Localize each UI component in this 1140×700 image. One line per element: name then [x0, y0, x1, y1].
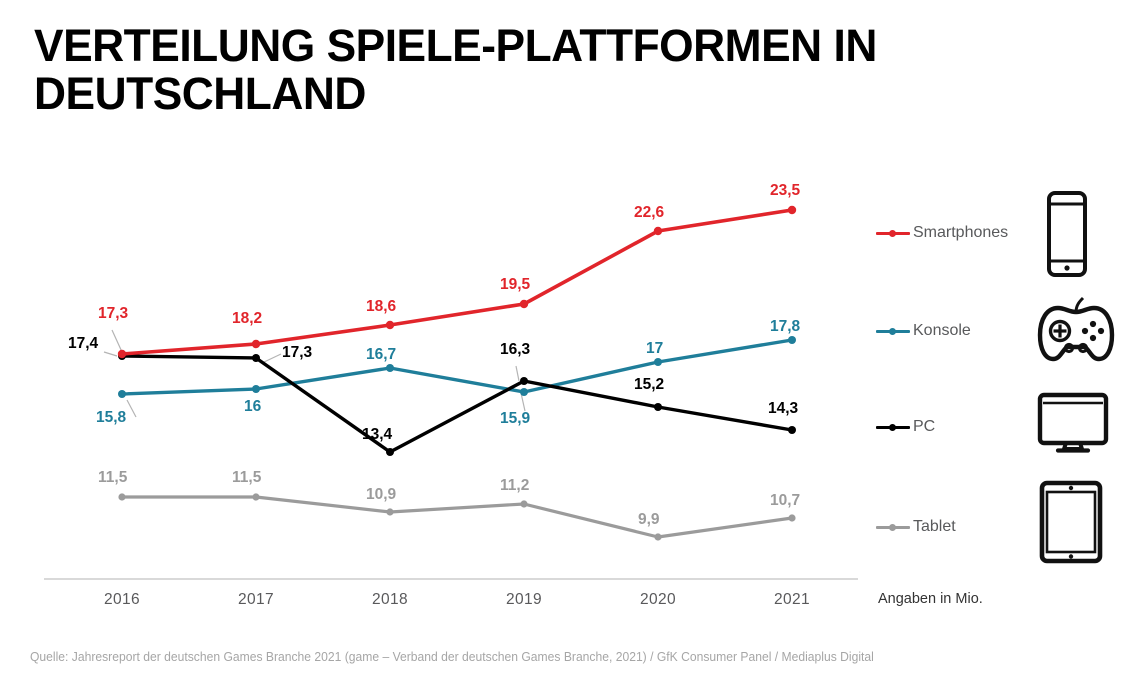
x-tick-2017: 2017 [211, 591, 301, 609]
data-label-pc-2021: 14,3 [768, 401, 798, 417]
x-axis-line [44, 578, 858, 580]
x-tick-2020: 2020 [613, 591, 703, 609]
data-point-smartphones-2019 [520, 300, 528, 308]
data-point-tablet-2020 [654, 533, 661, 540]
data-point-konsole-2017 [252, 385, 260, 393]
data-label-tablet-2016: 11,5 [98, 470, 127, 486]
series-line-pc [122, 356, 792, 452]
data-point-tablet-2021 [788, 514, 795, 521]
source-note: Quelle: Jahresreport der deutschen Games… [30, 650, 874, 664]
legend-item-tablet[interactable]: Tablet [876, 518, 956, 536]
leader-line-pc-2017 [262, 354, 281, 363]
data-label-pc-2019: 16,3 [500, 342, 530, 358]
data-label-konsole-2020: 17 [646, 341, 663, 357]
series-smartphones [118, 206, 796, 358]
data-point-konsole-2021 [788, 336, 796, 344]
data-point-pc-2021 [788, 426, 796, 434]
tablet-icon [1036, 480, 1106, 569]
data-point-konsole-2018 [386, 364, 394, 372]
data-label-pc-2020: 15,2 [634, 377, 664, 393]
data-point-pc-2018 [386, 448, 394, 456]
data-point-konsole-2016 [118, 390, 126, 398]
legend-swatch-pc [876, 421, 910, 433]
smartphone-icon [1036, 190, 1098, 283]
data-point-tablet-2019 [520, 500, 527, 507]
series-line-tablet [122, 497, 792, 537]
leader-line-konsole-2016 [127, 400, 136, 417]
data-label-konsole-2021: 17,8 [770, 319, 800, 335]
data-label-tablet-2018: 10,9 [366, 487, 396, 503]
data-label-konsole-2016: 15,8 [96, 410, 126, 426]
data-point-pc-2019 [520, 377, 528, 385]
legend-label-konsole: Konsole [913, 322, 971, 340]
axis-unit-note: Angaben in Mio. [878, 591, 983, 607]
data-label-pc-2018: 13,4 [362, 427, 392, 443]
data-point-tablet-2017 [252, 493, 259, 500]
data-label-tablet-2021: 10,7 [770, 493, 800, 509]
data-point-konsole-2020 [654, 358, 662, 366]
data-label-smartphones-2017: 18,2 [232, 311, 262, 327]
gamepad-icon [1036, 295, 1116, 376]
series-pc [118, 352, 796, 456]
data-label-pc-2017: 17,3 [282, 345, 312, 361]
leader-line-pc-2016 [104, 352, 117, 356]
x-tick-2019: 2019 [479, 591, 569, 609]
legend-swatch-smartphones [876, 227, 910, 239]
x-tick-2018: 2018 [345, 591, 435, 609]
legend-item-pc[interactable]: PC [876, 418, 935, 436]
data-label-tablet-2020: 9,9 [638, 512, 660, 528]
legend-item-smartphones[interactable]: Smartphones [876, 224, 1008, 242]
x-tick-2016: 2016 [77, 591, 167, 609]
data-point-smartphones-2017 [252, 340, 260, 348]
data-label-tablet-2017: 11,5 [232, 470, 261, 486]
data-point-pc-2020 [654, 403, 662, 411]
data-label-pc-2016: 17,4 [68, 336, 98, 352]
data-label-smartphones-2021: 23,5 [770, 183, 800, 199]
data-point-tablet-2018 [386, 508, 393, 515]
data-point-tablet-2016 [118, 493, 125, 500]
data-point-smartphones-2020 [654, 227, 662, 235]
legend-label-pc: PC [913, 418, 935, 436]
leader-lines [104, 330, 525, 417]
data-label-konsole-2017: 16 [244, 399, 261, 415]
series-line-smartphones [122, 210, 792, 354]
data-label-smartphones-2019: 19,5 [500, 277, 530, 293]
data-label-smartphones-2016: 17,3 [98, 306, 128, 322]
legend-swatch-tablet [876, 521, 910, 533]
legend-item-konsole[interactable]: Konsole [876, 322, 971, 340]
legend-label-tablet: Tablet [913, 518, 956, 536]
data-label-konsole-2019: 15,9 [500, 411, 530, 427]
data-point-konsole-2019 [520, 388, 528, 396]
x-tick-2021: 2021 [747, 591, 837, 609]
data-label-smartphones-2020: 22,6 [634, 205, 664, 221]
data-label-konsole-2018: 16,7 [366, 347, 396, 363]
series-tablet [118, 493, 795, 540]
data-point-smartphones-2021 [788, 206, 796, 214]
leader-line-smartphones-2016 [112, 330, 122, 352]
data-point-pc-2017 [252, 354, 260, 362]
legend-label-smartphones: Smartphones [913, 224, 1008, 242]
data-label-tablet-2019: 11,2 [500, 478, 529, 494]
monitor-icon [1036, 392, 1110, 459]
data-point-smartphones-2016 [118, 350, 126, 358]
data-label-smartphones-2018: 18,6 [366, 299, 396, 315]
legend-swatch-konsole [876, 325, 910, 337]
leader-line-pc-2019 [516, 366, 519, 381]
data-point-smartphones-2018 [386, 321, 394, 329]
